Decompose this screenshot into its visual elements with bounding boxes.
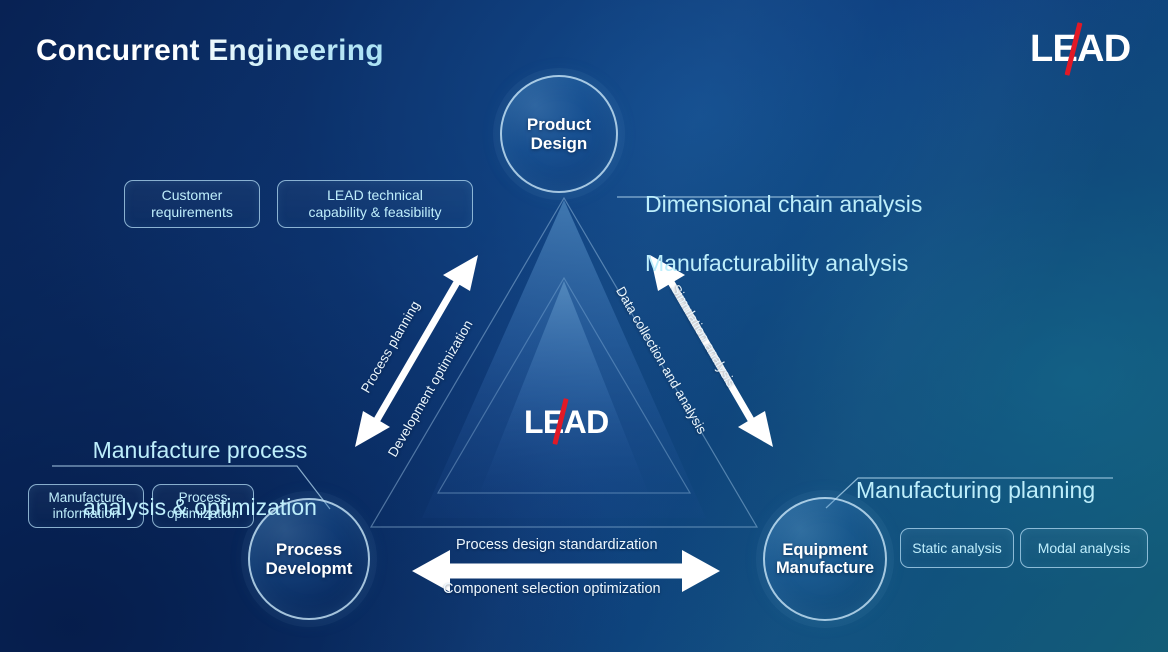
mid-triangle [438, 278, 690, 493]
callout-top-right-line1: Dimensional chain analysis [645, 191, 922, 218]
node-product-design[interactable]: Product Design [500, 75, 618, 193]
node-process-development-line2: Developmt [266, 559, 353, 578]
chip-lead-technical[interactable]: LEAD technical capability & feasibility [277, 180, 473, 228]
chip-static-analysis-label: Static analysis [912, 540, 1001, 557]
arrow-label-process-design-standardization-text: Process design standardization [456, 537, 658, 553]
callout-left: Manufacture process analysis & optimizat… [50, 410, 350, 549]
chip-customer-requirements-line1: Customer [151, 187, 233, 204]
node-equipment-manufacture-line2: Manufacture [776, 559, 874, 577]
node-product-design-line2: Design [527, 134, 591, 153]
chip-lead-technical-line1: LEAD technical [308, 187, 441, 204]
node-equipment-manufacture-line1: Equipment [776, 541, 874, 559]
chip-customer-requirements[interactable]: Customer requirements [124, 180, 260, 228]
arrow-label-component-selection-optimization-text: Component selection optimization [443, 581, 661, 597]
lead-wordmark: LEAD [1030, 30, 1130, 68]
callout-top-right: Dimensional chain analysis Manufacturabi… [645, 164, 922, 305]
arrow-label-process-planning: Process planning [358, 298, 423, 395]
lead-logo-header: LEAD [1030, 28, 1122, 72]
lead-wordmark-center: LEAD [524, 406, 609, 438]
slide-canvas: Concurrent Engineering LEAD [0, 0, 1168, 652]
chip-modal-analysis-label: Modal analysis [1038, 540, 1131, 557]
arrow-label-process-design-standardization: Process design standardization [456, 537, 658, 553]
chip-static-analysis[interactable]: Static analysis [900, 528, 1014, 568]
arrow-label-process-planning-text: Process planning [358, 298, 423, 395]
callout-left-line2: analysis & optimization [50, 494, 350, 521]
chip-lead-technical-line2: capability & feasibility [308, 204, 441, 221]
callout-top-right-line2: Manufacturability analysis [645, 250, 922, 277]
page-title: Concurrent Engineering [36, 34, 384, 68]
node-product-design-line1: Product [527, 115, 591, 134]
chip-modal-analysis[interactable]: Modal analysis [1020, 528, 1148, 568]
lead-logo-center: LEAD [524, 404, 604, 442]
callout-right-line1: Manufacturing planning [856, 477, 1095, 504]
chip-customer-requirements-line2: requirements [151, 204, 233, 221]
callout-right: Manufacturing planning [856, 450, 1095, 531]
callout-left-line1: Manufacture process [50, 437, 350, 464]
arrow-label-component-selection-optimization: Component selection optimization [443, 581, 661, 597]
filled-triangle-inner [480, 281, 648, 492]
